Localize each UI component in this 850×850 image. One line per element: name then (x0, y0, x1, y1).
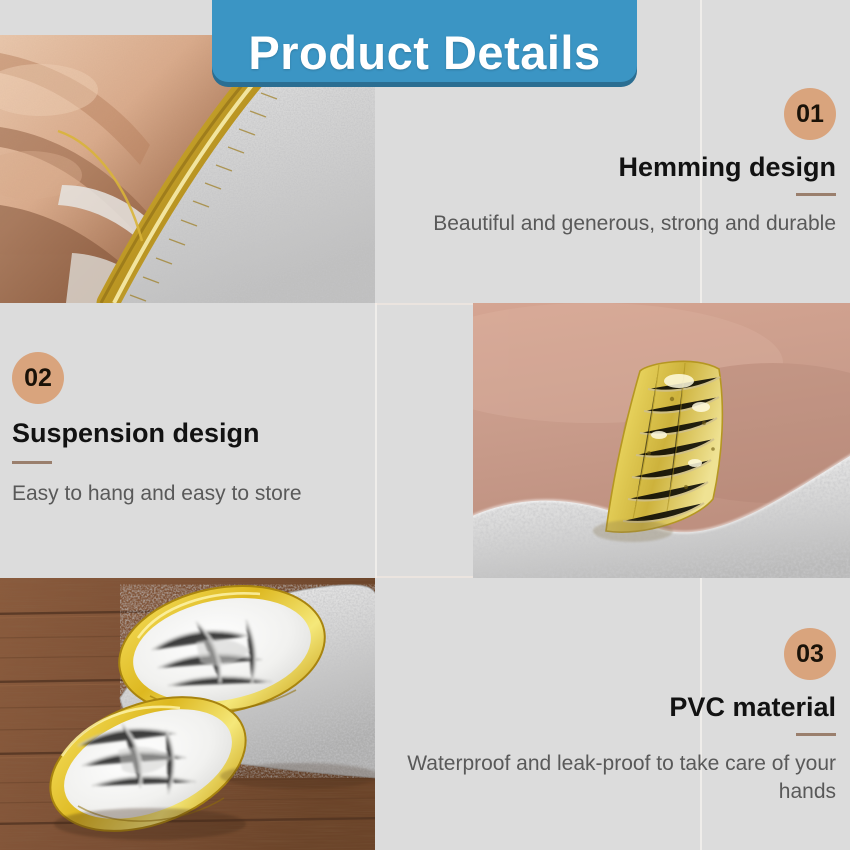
header-banner: Product Details (212, 0, 637, 82)
feature-image-suspension-design (473, 303, 850, 578)
feature-number-badge-01: 01 (784, 88, 836, 140)
feature-title-01: Hemming design (366, 152, 836, 183)
feature-divider-01 (796, 193, 836, 196)
feature-title-02: Suspension design (12, 418, 432, 449)
product-details-infographic: Product Details 01 Hemming design Beauti… (0, 0, 850, 850)
feature-block-suspension-design: 02 Suspension design Easy to hang and ea… (12, 352, 432, 508)
feature-block-pvc-material: 03 PVC material Waterproof and leak-proo… (366, 628, 836, 807)
feature-image-pvc-material (0, 578, 375, 850)
feature-divider-02 (12, 461, 52, 464)
feature-divider-03 (796, 733, 836, 736)
background-seam-horizontal (375, 303, 475, 305)
feature-description-03: Waterproof and leak-proof to take care o… (366, 750, 836, 807)
feature-description-01: Beautiful and generous, strong and durab… (366, 210, 836, 238)
feature-number-badge-02: 02 (12, 352, 64, 404)
feature-number-badge-03: 03 (784, 628, 836, 680)
background-seam-horizontal (375, 576, 473, 578)
page-title: Product Details (248, 29, 600, 76)
feature-description-02: Easy to hang and easy to store (12, 480, 432, 508)
feature-block-hemming-design: 01 Hemming design Beautiful and generous… (366, 88, 836, 238)
feature-title-03: PVC material (366, 692, 836, 723)
